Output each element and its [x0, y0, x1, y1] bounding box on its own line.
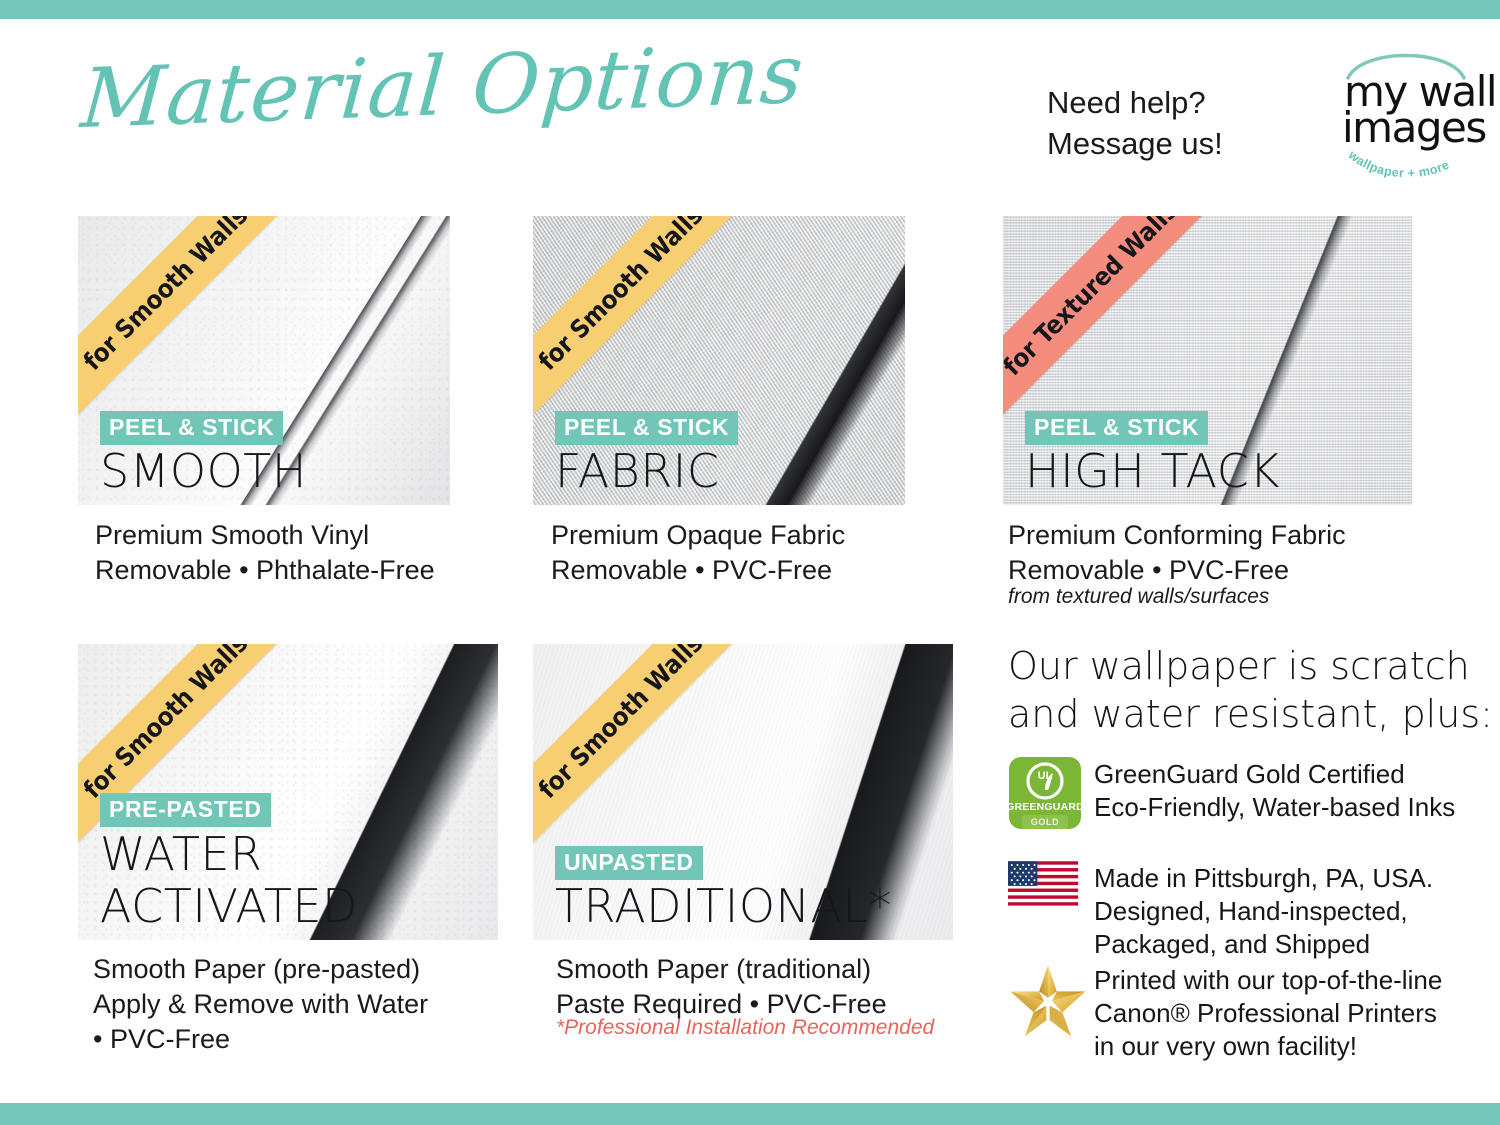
material-card-high-tack[interactable]: for Textured Walls PEEL & STICK HIGH TAC…: [1003, 216, 1412, 505]
card-footnote: *Professional Installation Recommended: [556, 1014, 934, 1042]
material-card-fabric[interactable]: for Smooth Walls PEEL & STICK FABRIC: [533, 216, 905, 505]
feature-canon-printers: Printed with our top-of-the-line Canon® …: [1008, 962, 1478, 1063]
need-help-line1: Need help?: [1047, 82, 1223, 123]
card-title: SMOOTH: [100, 446, 307, 497]
status-badge: PEEL & STICK: [1025, 411, 1208, 445]
card-label-block: PEEL & STICK SMOOTH: [100, 411, 307, 497]
logo-tagline: wallpaper + more: [1338, 140, 1478, 186]
status-badge: PEEL & STICK: [555, 411, 738, 445]
infographic-page: Material Options Need help? Message us! …: [0, 0, 1500, 1125]
need-help-text: Need help? Message us!: [1047, 82, 1223, 164]
material-card-traditional[interactable]: for Smooth Walls UNPASTED TRADITIONAL*: [533, 644, 953, 940]
card-description: Smooth Paper (pre-pasted) Apply & Remove…: [93, 952, 523, 1057]
bottom-accent-bar: [0, 1103, 1500, 1125]
greenguard-gold-badge-icon: UL GREENGUARD GOLD: [1008, 756, 1094, 836]
svg-text:UL: UL: [1038, 770, 1053, 782]
card-description: Premium Smooth Vinyl Removable • Phthala…: [95, 518, 515, 588]
material-card-water-activated[interactable]: for Smooth Walls PRE-PASTED WATER ACTIVA…: [78, 644, 498, 940]
status-badge: UNPASTED: [555, 846, 703, 880]
card-title: WATER ACTIVATED: [100, 828, 358, 932]
card-label-block: PEEL & STICK FABRIC: [555, 411, 738, 497]
card-title: FABRIC: [555, 446, 738, 497]
usa-flag-icon: [1008, 860, 1094, 908]
card-description: Premium Conforming Fabric Removable • PV…: [1008, 518, 1468, 588]
feature-text: GreenGuard Gold Certified Eco-Friendly, …: [1094, 756, 1455, 824]
status-badge: PRE-PASTED: [100, 793, 271, 827]
brand-logo: my wall images wallpaper + more: [1330, 40, 1480, 185]
card-label-block: PEEL & STICK HIGH TACK: [1025, 411, 1280, 497]
top-accent-bar: [0, 0, 1500, 19]
svg-text:wallpaper + more: wallpaper + more: [1345, 147, 1451, 180]
feature-text: Printed with our top-of-the-line Canon® …: [1094, 962, 1442, 1063]
card-footnote: from textured walls/surfaces: [1008, 583, 1269, 611]
need-help-line2: Message us!: [1047, 123, 1223, 164]
feature-made-in-usa: Made in Pittsburgh, PA, USA. Designed, H…: [1008, 860, 1478, 961]
feature-text: Made in Pittsburgh, PA, USA. Designed, H…: [1094, 860, 1433, 961]
page-title: Material Options: [78, 27, 807, 147]
features-heading: Our wallpaper is scratch and water resis…: [1008, 642, 1493, 738]
feature-greenguard: UL GREENGUARD GOLD GreenGuard Gold Certi…: [1008, 756, 1478, 836]
svg-text:GREENGUARD: GREENGUARD: [1008, 801, 1082, 813]
card-description: Premium Opaque Fabric Removable • PVC-Fr…: [551, 518, 971, 588]
status-badge: PEEL & STICK: [100, 411, 283, 445]
card-title: HIGH TACK: [1025, 446, 1280, 497]
card-description: Smooth Paper (traditional) Paste Require…: [556, 952, 986, 1022]
svg-text:GOLD: GOLD: [1031, 817, 1059, 827]
card-label-block: PRE-PASTED WATER ACTIVATED: [100, 793, 358, 932]
material-card-smooth[interactable]: for Smooth Walls PEEL & STICK SMOOTH: [78, 216, 450, 505]
card-label-block: UNPASTED TRADITIONAL*: [555, 846, 892, 932]
gold-star-icon: [1008, 962, 1094, 1040]
card-title: TRADITIONAL*: [555, 881, 892, 932]
